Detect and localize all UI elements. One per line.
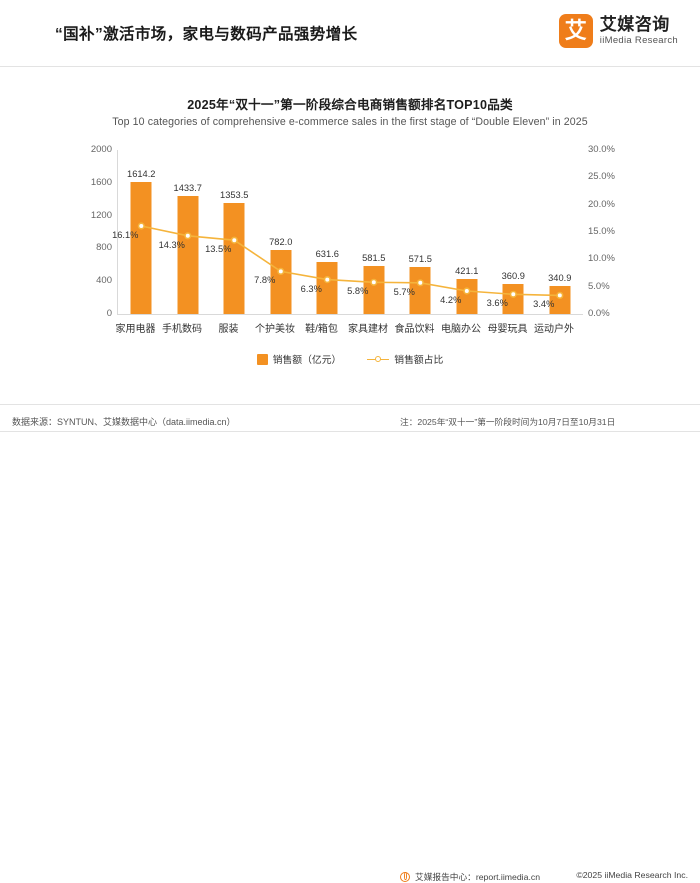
x-axis-labels: 家用电器手机数码服装个护美妆鞋/箱包家具建材食品饮料电脑办公母婴玩具运动户外 [118, 320, 583, 340]
left-axis-tick: 1600 [91, 177, 112, 188]
globe-icon [400, 872, 410, 882]
page-title: “国补”激活市场，家电与数码产品强势增长 [55, 22, 358, 44]
copyright-text: ©2025 iiMedia Research Inc. [576, 870, 688, 880]
chart-legend: 销售额（亿元） 销售额占比 [0, 352, 700, 366]
page-header: “国补”激活市场，家电与数码产品强势增长 艾 艾媒咨询 iiMedia Rese… [0, 0, 700, 70]
right-axis-tick: 5.0% [588, 281, 610, 292]
x-axis-label: 运动户外 [525, 320, 583, 335]
line-value-label: 13.5% [205, 244, 231, 254]
left-axis-tick: 2000 [91, 144, 112, 155]
line-value-label: 7.8% [254, 275, 275, 285]
chart-plot-area: 0400800120016002000 0.0%5.0%10.0%15.0%20… [0, 140, 700, 345]
brand-text: 艾媒咨询 iiMedia Research [600, 16, 678, 46]
legend-bar-label: 销售额（亿元） [273, 352, 342, 366]
left-axis-tick: 800 [96, 242, 112, 253]
right-axis-tick: 10.0% [588, 253, 615, 264]
chart-subtitle: Top 10 categories of comprehensive e-com… [0, 116, 700, 128]
brand-logo: 艾 艾媒咨询 iiMedia Research [559, 14, 678, 48]
line-value-label: 5.7% [394, 287, 415, 297]
legend-line-swatch-icon [367, 354, 389, 365]
legend-bar-swatch-icon [257, 354, 268, 365]
right-axis: 0.0%5.0%10.0%15.0%20.0%25.0%30.0% [588, 140, 648, 320]
line-value-label: 4.2% [440, 295, 461, 305]
line-value-label: 3.4% [533, 299, 554, 309]
chart-title: 2025年“双十一”第一阶段综合电商销售额排名TOP10品类 [0, 94, 700, 113]
line-value-label: 5.8% [347, 286, 368, 296]
left-axis-tick: 0 [107, 308, 112, 319]
data-source-text: 数据来源：SYNTUN、艾媒数据中心（data.iimedia.cn） [12, 415, 236, 428]
right-axis-tick: 0.0% [588, 308, 610, 319]
brand-name-cn: 艾媒咨询 [600, 16, 678, 34]
line-value-label: 3.6% [487, 298, 508, 308]
header-divider [0, 66, 700, 67]
line-value-label: 16.1% [112, 230, 138, 240]
line-point-labels: 16.1%14.3%13.5%7.8%6.3%5.8%5.7%4.2%3.6%3… [118, 150, 583, 314]
line-value-label: 6.3% [301, 284, 322, 294]
left-axis-tick: 1200 [91, 210, 112, 221]
footer-divider-top [0, 404, 700, 405]
left-axis: 0400800120016002000 [62, 140, 112, 320]
footer-bar: 艾媒报告中心：report.iimedia.cn ©2025 iiMedia R… [0, 432, 700, 455]
footnote-text: 注：2025年“双十一”第一阶段时间为10月7日至10月31日 [400, 415, 615, 428]
left-axis-tick: 400 [96, 275, 112, 286]
report-link-label: 艾媒报告中心：report.iimedia.cn [415, 870, 540, 883]
legend-line-label: 销售额占比 [394, 352, 443, 366]
legend-item-line: 销售额占比 [367, 352, 443, 366]
chart-page: “国补”激活市场，家电与数码产品强势增长 艾 艾媒咨询 iiMedia Rese… [0, 0, 700, 455]
report-link[interactable]: 艾媒报告中心：report.iimedia.cn [400, 870, 540, 883]
right-axis-tick: 30.0% [588, 144, 615, 155]
right-axis-tick: 15.0% [588, 226, 615, 237]
line-value-label: 14.3% [159, 240, 185, 250]
right-axis-tick: 25.0% [588, 171, 615, 182]
brand-name-en: iiMedia Research [600, 36, 678, 46]
brand-mark-icon: 艾 [559, 14, 593, 48]
right-axis-tick: 20.0% [588, 199, 615, 210]
legend-item-bar: 销售额（亿元） [257, 352, 342, 366]
